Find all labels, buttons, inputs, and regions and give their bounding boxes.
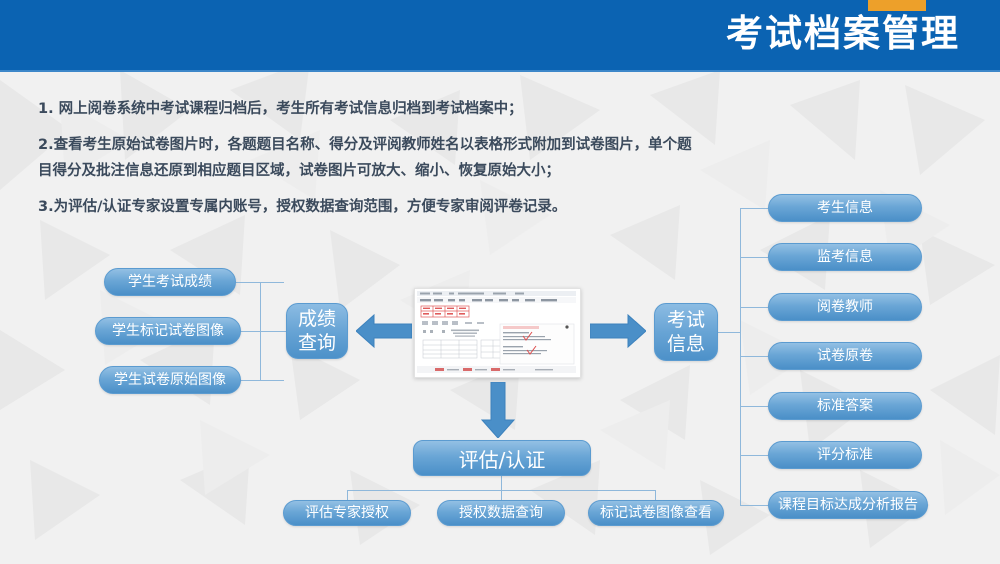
node-label: 标记试卷图像查看 [600,504,712,522]
diagram: 学生考试成绩 学生标记试卷图像 学生试卷原始图像 成绩 查询 [0,0,1000,564]
node-assessment-certification-hub[interactable]: 评估/认证 [413,440,591,476]
node-authorized-data-query[interactable]: 授权数据查询 [437,500,565,526]
node-label: 监考信息 [817,248,873,266]
right-connector-5 [740,406,768,407]
body-text-block: 1. 网上阅卷系统中考试课程归档后，考生所有考试信息归档到考试档案中； 2.查看… [38,96,698,230]
node-label-line2: 查询 [298,331,336,355]
node-candidate-info[interactable]: 考生信息 [768,194,922,222]
arrow-down-icon [480,382,516,438]
node-label-line2: 信息 [667,332,705,356]
node-label: 学生考试成绩 [128,273,212,291]
node-label: 授权数据查询 [459,504,543,522]
node-student-marked-paper-image[interactable]: 学生标记试卷图像 [95,317,241,345]
node-label: 试卷原卷 [817,347,873,365]
node-label: 评估/认证 [459,444,546,473]
node-marked-paper-image-view[interactable]: 标记试卷图像查看 [588,500,724,526]
node-invigilation-info[interactable]: 监考信息 [768,243,922,271]
node-exam-info-hub[interactable]: 考试 信息 [654,303,718,361]
node-label: 学生标记试卷图像 [112,322,224,340]
right-connector-2 [740,257,768,258]
node-score-query-hub[interactable]: 成绩 查询 [286,303,348,359]
body-paragraph-1: 1. 网上阅卷系统中考试课程归档后，考生所有考试信息归档到考试档案中； [38,96,698,122]
page-title: 考试档案管理 [726,11,960,57]
header-underline [0,70,1000,72]
left-connector-hub [260,331,288,332]
body-paragraph-2: 2.查看考生原始试卷图片时，各题题目名称、得分及评阅教师姓名以表格形式附加到试卷… [38,132,698,184]
arrow-left-icon [356,312,412,350]
node-label: 评分标准 [817,446,873,464]
node-student-exam-score[interactable]: 学生考试成绩 [104,268,236,296]
node-label-line1: 考试 [667,308,705,332]
right-connector-hub [718,332,740,333]
right-connector-3 [740,307,768,308]
right-connector-7 [740,505,768,506]
exam-paper-screenshot [415,289,578,375]
node-scoring-criteria[interactable]: 评分标准 [768,441,922,469]
node-grading-teacher[interactable]: 阅卷教师 [768,293,922,321]
right-connector-1 [740,208,768,209]
node-label: 标准答案 [817,397,873,415]
node-label: 考生信息 [817,199,873,217]
node-label-line1: 成绩 [298,307,336,331]
node-label: 课程目标达成分析报告 [778,496,918,514]
exam-paper-thumbnail[interactable] [414,288,581,378]
bottom-connector-drop [501,476,502,490]
orange-accent-tab [868,0,926,11]
node-label: 评估专家授权 [305,504,389,522]
slide-page: 考试档案管理 1. 网上阅卷系统中考试课程归档后，考生所有考试信息归档到考试档案… [0,0,1000,564]
node-label: 学生试卷原始图像 [114,371,226,389]
body-paragraph-3: 3.为评估/认证专家设置专属内账号，授权数据查询范围，方便专家审阅评卷记录。 [38,194,698,220]
node-course-goal-report[interactable]: 课程目标达成分析报告 [768,491,928,519]
node-original-exam-paper[interactable]: 试卷原卷 [768,342,922,370]
right-connector-4 [740,356,768,357]
right-connector-6 [740,455,768,456]
node-expert-authorization[interactable]: 评估专家授权 [283,500,411,526]
node-label: 阅卷教师 [817,298,873,316]
node-standard-answer[interactable]: 标准答案 [768,392,922,420]
arrow-right-icon [590,312,646,350]
node-student-original-paper-image[interactable]: 学生试卷原始图像 [99,366,241,394]
